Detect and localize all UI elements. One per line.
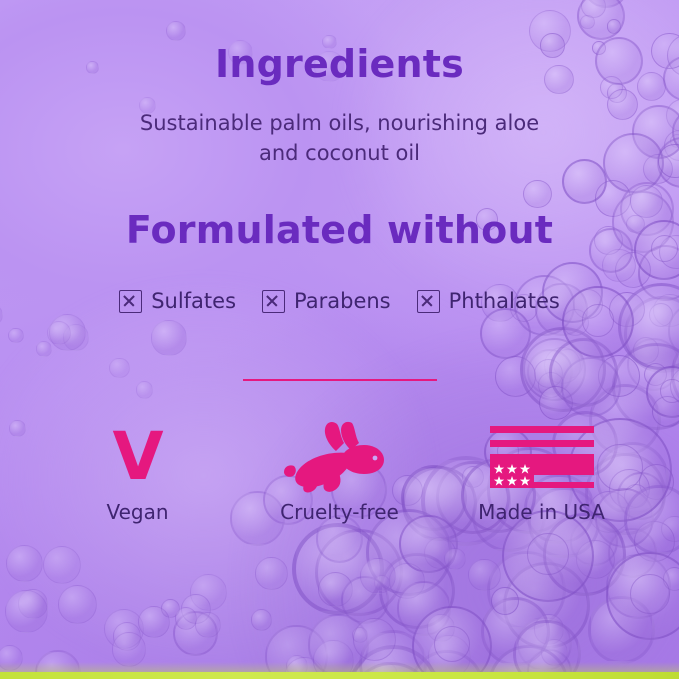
free-from-list: Sulfates Parabens Phthalates <box>0 289 679 313</box>
usa-flag-icon <box>490 418 594 496</box>
certification-badges: V Vegan <box>0 418 679 524</box>
badge-vegan: V Vegan <box>63 418 213 524</box>
free-from-item-sulfates: Sulfates <box>119 289 236 313</box>
page-title-ingredients: Ingredients <box>0 42 679 86</box>
free-from-label-parabens: Parabens <box>294 289 391 313</box>
bottom-edge-glow <box>0 662 679 672</box>
vegan-v-glyph: V <box>112 424 162 490</box>
vegan-v-icon: V <box>112 418 162 496</box>
bottom-edge-strip <box>0 672 679 679</box>
free-from-item-parabens: Parabens <box>262 289 391 313</box>
free-from-label-phthalates: Phthalates <box>449 289 560 313</box>
card-content: Ingredients Sustainable palm oils, nouri… <box>0 0 679 679</box>
badge-label-made-in-usa: Made in USA <box>478 500 605 524</box>
free-from-item-phthalates: Phthalates <box>417 289 560 313</box>
section-divider <box>243 379 437 381</box>
rabbit-icon <box>280 418 400 496</box>
x-box-icon <box>119 290 142 313</box>
ingredients-description-line-1: Sustainable palm oils, nourishing aloe <box>0 108 679 138</box>
x-box-icon <box>262 290 285 313</box>
badge-cruelty-free: Cruelty-free <box>265 418 415 524</box>
badge-label-vegan: Vegan <box>106 500 168 524</box>
product-info-card: Ingredients Sustainable palm oils, nouri… <box>0 0 679 679</box>
page-title-formulated-without: Formulated without <box>0 208 679 252</box>
badge-made-in-usa: Made in USA <box>467 418 617 524</box>
badge-label-cruelty-free: Cruelty-free <box>280 500 399 524</box>
ingredients-description: Sustainable palm oils, nourishing aloe a… <box>0 108 679 168</box>
ingredients-description-line-2: and coconut oil <box>0 138 679 168</box>
x-box-icon <box>417 290 440 313</box>
free-from-label-sulfates: Sulfates <box>151 289 236 313</box>
